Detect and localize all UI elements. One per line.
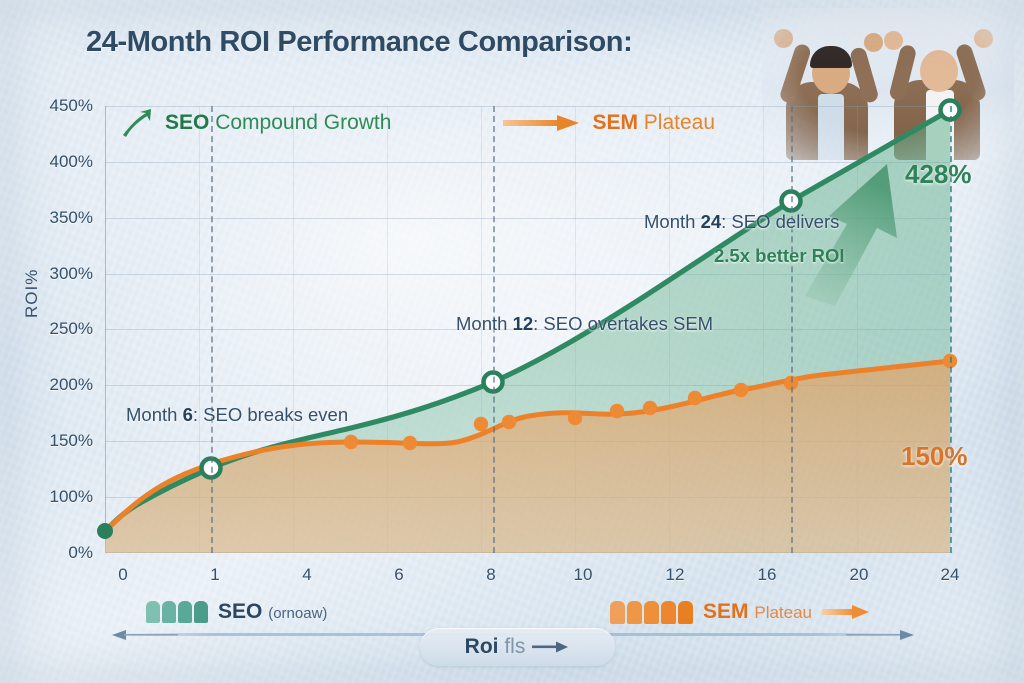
x-tick-0: 0	[118, 565, 127, 585]
footer-group-sem: SEM Plateau	[610, 600, 870, 624]
annotation-month24-line1: Month 24: SEO delivers	[644, 211, 839, 233]
annotation-month12: Month 12: SEO overtakes SEM	[456, 313, 713, 335]
x-tick-20: 20	[850, 565, 869, 585]
sem-marker	[688, 391, 702, 405]
y-tick-400: 400%	[50, 152, 93, 172]
sem-marker	[403, 436, 417, 450]
arrow-left-icon	[110, 628, 180, 642]
sem-marker	[568, 411, 582, 425]
x-tick-4: 4	[302, 565, 311, 585]
y-tick-250: 250%	[50, 319, 93, 339]
footer-group-seo: SEO (ornoaw)	[146, 600, 327, 624]
footer-center-pill[interactable]: Roi fls	[420, 628, 615, 666]
y-tick-300: 300%	[50, 264, 93, 284]
sem-marker	[474, 417, 488, 431]
annotation-month24-line2: 2.5x better ROI	[714, 245, 845, 267]
y-tick-200: 200%	[50, 375, 93, 395]
sem-marker	[734, 383, 748, 397]
y-tick-150: 150%	[50, 431, 93, 451]
arrow-right-icon-sem	[822, 604, 870, 620]
arrow-right-icon-pill	[532, 640, 570, 654]
footer-label-sem: SEM Plateau	[703, 600, 812, 624]
y-axis-label: ROI%	[22, 269, 42, 318]
x-tick-6: 6	[394, 565, 403, 585]
footer-pill-label: Roi fls	[465, 635, 526, 659]
y-tick-0: 0%	[68, 543, 93, 563]
people-group-icon-seo	[146, 601, 208, 623]
annotation-month6: Month 6: SEO breaks even	[126, 404, 348, 426]
vmarker-month20	[791, 106, 793, 553]
y-tick-100: 100%	[50, 487, 93, 507]
footer-label-seo: SEO (ornoaw)	[218, 600, 327, 624]
vmarker-month6	[211, 106, 213, 553]
x-tick-10: 10	[574, 565, 593, 585]
x-tick-24: 24	[941, 565, 960, 585]
sem-marker	[502, 415, 516, 429]
page-title: 24-Month ROI Performance Comparison:	[86, 26, 632, 59]
seo-marker-m0	[97, 523, 113, 539]
people-group-icon-sem	[610, 601, 693, 624]
infographic-canvas: 24-Month ROI Performance Comparison:	[0, 0, 1024, 683]
x-tick-8: 8	[486, 565, 495, 585]
y-tick-450: 450%	[50, 96, 93, 116]
sem-marker	[344, 435, 358, 449]
seo-final-value-label: 428%	[905, 159, 972, 190]
y-tick-350: 350%	[50, 208, 93, 228]
arrow-right-icon	[846, 628, 916, 642]
sem-final-value-label: 150%	[901, 441, 968, 472]
x-tick-16: 16	[758, 565, 777, 585]
x-tick-12: 12	[666, 565, 685, 585]
sem-marker	[610, 404, 624, 418]
x-tick-1: 1	[210, 565, 219, 585]
sem-marker	[643, 401, 657, 415]
